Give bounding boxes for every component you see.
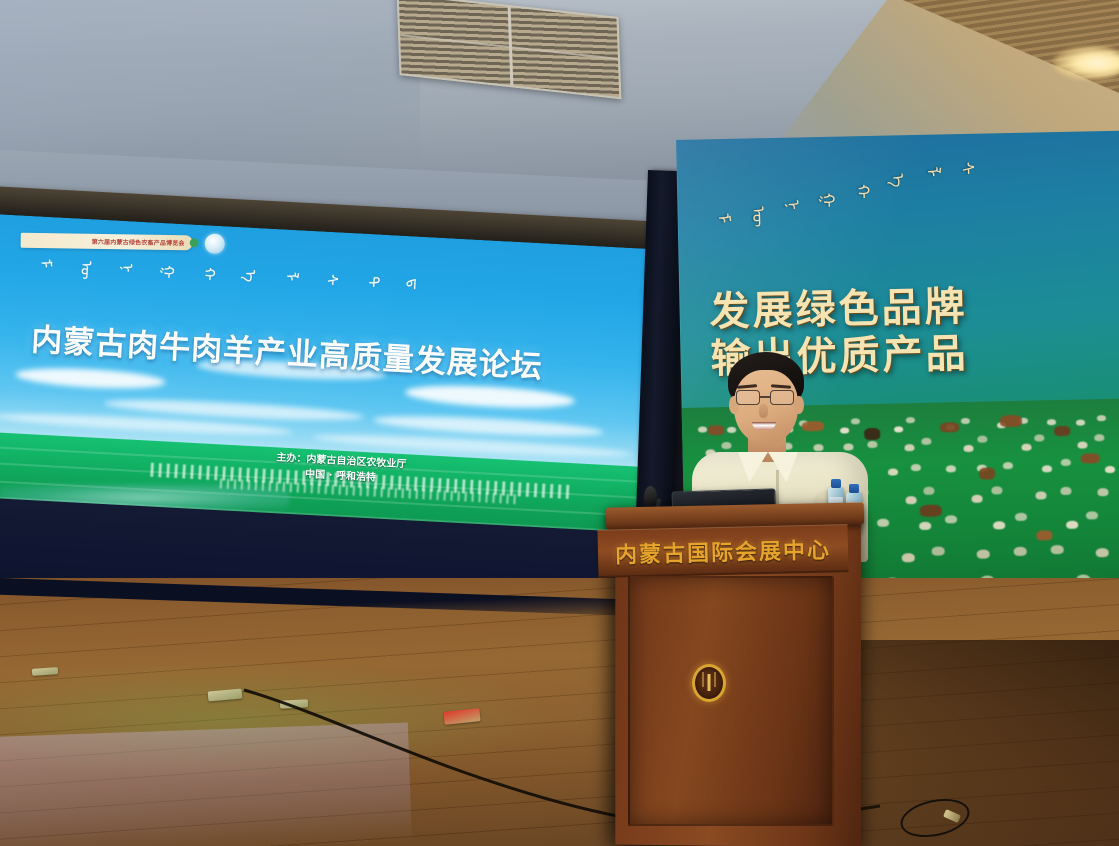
pasture-sheep [894, 426, 903, 432]
pasture-cattle [940, 422, 959, 432]
mongolian-glyph: ᠰ [324, 274, 340, 286]
pasture-sheep [1003, 462, 1013, 469]
pasture-cattle [1036, 530, 1052, 540]
pasture-sheep [906, 496, 917, 504]
pasture-cattle [1054, 426, 1070, 436]
ceiling-light-fixture [1053, 46, 1119, 80]
badge-end-dot [190, 238, 199, 247]
pasture-cattle [920, 505, 942, 517]
podium-front-panel [628, 576, 834, 826]
pasture-sheep [902, 553, 915, 562]
mongolian-glyph: ᠭ [160, 265, 176, 279]
pasture-sheep [945, 465, 955, 472]
pasture-sheep [976, 549, 989, 558]
mongolian-glyph: ᠮ [713, 167, 731, 224]
pasture-cattle [1000, 415, 1022, 427]
mongolian-glyph: ᠡ [888, 163, 905, 187]
pasture-sheep [1022, 444, 1032, 451]
pasture-sheep [1035, 491, 1046, 499]
podium-nameplate: 内蒙古国际会展中心 [597, 524, 848, 578]
pasture-sheep [1086, 511, 1098, 519]
pasture-sheep [961, 417, 970, 423]
pasture-sheep [931, 547, 944, 556]
pasture-sheep [1076, 419, 1085, 425]
slogan-line-1: 发展绿色品牌 [709, 281, 1110, 337]
pasture-sheep [877, 519, 889, 527]
pasture-sheep [1035, 435, 1045, 442]
pasture-sheep [888, 468, 898, 475]
pasture-sheep [1094, 434, 1104, 441]
pasture-sheep [1041, 465, 1051, 472]
pasture-sheep [911, 464, 921, 471]
floor-tape-marker [280, 699, 308, 708]
pasture-sheep [1047, 419, 1056, 425]
banner-mongolian-script: ᠮ ᠦ ᠨ ᠭ ᠬ ᠡ ᠯ ᠰ [713, 160, 1046, 297]
pasture-sheep [923, 487, 934, 495]
pasture-cattle [1081, 453, 1100, 463]
conference-stage-photo: 第六届内蒙古绿色农畜产品博览会 ᠮ ᠦ ᠨ ᠭ ᠬ ᠡ ᠯ ᠰ ᠲ ᠳ 内蒙古肉… [0, 0, 1119, 846]
pasture-sheep [1015, 513, 1027, 521]
pasture-sheep [1013, 547, 1026, 556]
mongolian-glyph: ᠳ [406, 278, 422, 290]
mongolian-glyph: ᠦ [78, 261, 94, 280]
pasture-sheep [993, 521, 1005, 529]
venue-name-label: 内蒙古国际会展中心 [615, 532, 832, 569]
mongolian-glyph: ᠯ [923, 162, 940, 177]
pasture-sheep [1098, 488, 1109, 496]
pasture-sheep [1066, 521, 1078, 529]
podium-emblem-icon [692, 664, 726, 702]
pasture-sheep [1078, 442, 1088, 449]
speaker-nose [759, 404, 768, 418]
pasture-cattle [979, 467, 995, 479]
mongolian-glyph: ᠬ [201, 267, 217, 281]
floor-light-reflection [0, 723, 412, 846]
event-badge-ribbon: 第六届内蒙古绿色农畜产品博览会 [21, 233, 193, 251]
pasture-sheep [1105, 465, 1115, 472]
mongolian-glyph: ᠨ [119, 263, 134, 273]
mongolian-glyph: ᠲ [365, 276, 381, 288]
mongolian-glyph: ᠦ [748, 166, 766, 227]
air-conditioning-vent-icon [397, 0, 622, 99]
pasture-sheep [945, 516, 957, 524]
pasture-sheep [1051, 545, 1064, 554]
pasture-sheep [919, 521, 931, 529]
mongolian-glyph: ᠰ [958, 162, 975, 175]
pasture-sheep [1061, 459, 1071, 466]
pasture-sheep [1097, 415, 1106, 421]
pasture-sheep [1095, 548, 1108, 557]
led-screen: 第六届内蒙古绿色农畜产品博览会 ᠮ ᠦ ᠨ ᠭ ᠬ ᠡ ᠯ ᠰ ᠲ ᠳ 内蒙古肉… [0, 214, 665, 549]
pasture-sheep [971, 494, 982, 502]
pasture-sheep [905, 417, 914, 423]
mongolian-glyph: ᠮ [37, 258, 52, 268]
pasture-sheep [991, 486, 1002, 494]
pasture-sheep [964, 444, 974, 451]
mongolian-glyph: ᠬ [853, 164, 871, 199]
event-badge-label: 第六届内蒙古绿色农畜产品博览会 [92, 237, 185, 247]
mongolian-glyph: ᠯ [283, 271, 298, 281]
pasture-sheep [1060, 487, 1071, 495]
pasture-sheep [921, 438, 931, 445]
mongolian-glyph: ᠡ [242, 269, 258, 282]
mongolian-glyph: ᠨ [783, 165, 801, 210]
mongolian-glyph: ᠭ [818, 165, 836, 208]
pasture-sheep [977, 436, 987, 443]
pasture-sheep [904, 444, 914, 451]
